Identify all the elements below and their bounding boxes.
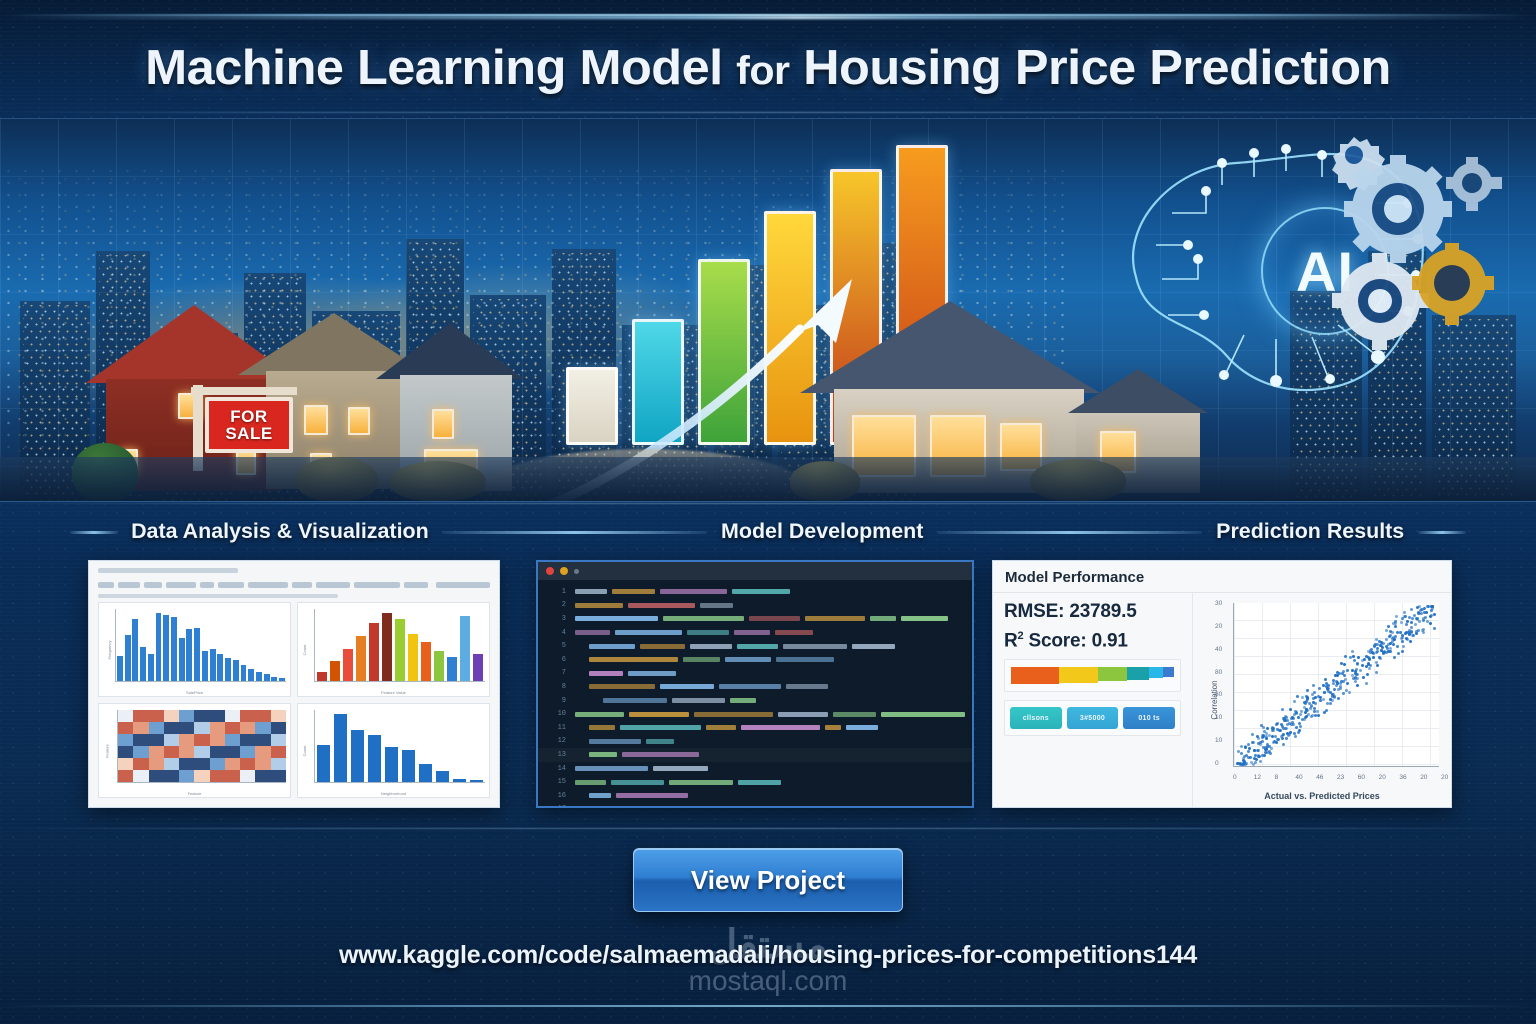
y-axis-tick: 10 [1215,714,1222,721]
house-roof-blue [376,323,524,379]
scatter-point [1356,673,1359,676]
scatter-point [1343,663,1346,666]
line-number: 7 [544,669,566,677]
scatter-point [1394,620,1397,623]
code-token [615,630,682,635]
scatter-point [1257,749,1260,752]
code-line: 6 [538,653,972,667]
scatter-point [1325,709,1328,712]
scatter-point [1356,663,1359,666]
scatter-point [1348,691,1351,694]
scatter-point [1409,640,1412,643]
bar [408,634,418,681]
r2-label-tail: Score: [1023,630,1086,651]
scatter-point [1425,611,1428,614]
code-token [589,739,641,744]
code-token [690,644,733,649]
scatter-point [1259,760,1262,763]
header-rule [937,531,1202,534]
scatter-point [1265,737,1268,740]
scatter-point [1354,676,1357,679]
bar [382,613,392,681]
scatter-point [1342,680,1345,683]
house-roof-slate [800,301,1100,393]
scatter-point [1389,650,1392,653]
code-line: 9 [538,694,972,708]
code-line: 15 [538,775,972,789]
bar [436,771,449,782]
feature-importance-segment [1098,667,1128,681]
scatter-point [1387,643,1390,646]
heatmap-cell [210,734,225,746]
line-number: 5 [544,642,566,650]
code-token [611,780,664,785]
bar [434,651,444,681]
code-token [616,793,688,798]
scatter-point [1385,638,1388,641]
heatmap-cell [240,746,255,758]
r2-value: 0.91 [1092,630,1128,651]
bar [473,654,483,681]
heatmap-cell [118,770,133,782]
bar [369,623,379,681]
heatmap-cell [164,746,179,758]
scatter-point [1266,727,1269,730]
data-analysis-panel[interactable]: Frequency SalePrice Count Feature Value … [88,560,500,808]
scatter-point [1372,656,1375,659]
scatter-point [1281,708,1284,711]
close-icon[interactable] [546,567,554,575]
y-axis-tick: 0 [1215,760,1219,767]
scatter-point [1392,643,1395,646]
scatter-point [1343,674,1346,677]
scatter-point [1368,658,1371,661]
scatter-point [1294,735,1297,738]
chip-2[interactable]: 3#5000 [1067,707,1119,729]
feature-importance-segment [1149,667,1163,678]
code-token [702,807,725,808]
chart-colored-histogram: Count Feature Value [297,602,490,697]
scatter-point [1418,605,1421,608]
line-number: 8 [544,683,566,691]
rmse-value: 23789.5 [1069,601,1136,622]
for-sale-sign: FOR SALE [205,397,293,453]
code-token [783,644,846,649]
scatter-point [1395,615,1398,618]
bar [271,677,277,681]
code-token [575,630,610,635]
bar [395,619,405,681]
scatter-point [1394,625,1397,628]
x-axis-tick: 20 [1420,774,1427,781]
scatter-point [1318,687,1321,690]
line-number: 13 [544,751,566,759]
scatter-point [1361,664,1364,667]
code-token [660,684,714,689]
scatter-point [1297,716,1300,719]
bar [117,656,123,681]
bar [210,649,216,681]
scatter-point [1344,655,1347,658]
scatter-point [1408,616,1411,619]
header-rule [70,531,118,534]
bar [225,658,231,681]
heatmap-cell [255,758,270,770]
heatmap-cell [271,770,286,782]
line-number: 14 [544,765,566,773]
sign-text-line2: SALE [225,425,272,442]
heatmap-cell [194,758,209,770]
code-token [628,603,695,608]
scatter-point [1312,697,1315,700]
scatter-point [1329,698,1332,701]
bar [194,628,200,681]
scatter-point [1324,678,1327,681]
scatter-point [1411,617,1414,620]
chip-3[interactable]: 010 ts [1123,707,1175,729]
results-header: Model Performance [993,561,1451,593]
y-axis-tick: 80 [1215,691,1222,698]
scatter-point [1365,682,1368,685]
scatter-point [1336,671,1339,674]
gears-icon [1294,135,1504,365]
code-token [687,630,729,635]
scatter-point [1335,684,1338,687]
scatter-point [1257,737,1260,740]
code-line: 10 [538,707,972,721]
bar [334,714,347,782]
scatter-point [1305,708,1308,711]
y-axis-tick: 10 [1215,737,1222,744]
light-streak-hero-bottom [0,503,1536,504]
x-axis-tick: 12 [1254,774,1261,781]
code-token [870,616,896,621]
heatmap-cell [271,734,286,746]
code-token [589,684,655,689]
code-token [620,725,700,730]
sign-text-line1: FOR [230,408,267,425]
minimize-icon[interactable] [560,567,568,575]
heatmap-cell [194,770,209,782]
scatter-point [1401,650,1404,653]
scatter-point [1410,608,1413,611]
scatter-point [1337,697,1340,700]
line-number: 11 [544,724,566,732]
line-number: 17 [544,805,566,808]
heatmap-cell [225,746,240,758]
bar [179,638,185,681]
heatmap-cell [240,734,255,746]
scatter-point [1418,620,1421,623]
chip-1[interactable]: cllsons [1010,707,1062,729]
code-token [589,807,607,808]
maximize-icon[interactable] [574,569,579,574]
heatmap-cell [179,722,194,734]
scatter-point [1316,710,1319,713]
scatter-point [1417,612,1420,615]
house-window [432,409,454,439]
notebook-header [98,568,490,577]
code-line: 17 [538,803,972,809]
feature-importance-widget [1004,659,1181,692]
scatter-point [1261,736,1264,739]
bar [202,651,208,681]
title-part-1: Machine Learning Model [145,41,723,95]
scatter-point [1278,729,1281,732]
metrics-column: RMSE: 23789.5 R2 Score: 0.91 cllsons 3#5… [993,593,1193,807]
code-token [706,725,737,730]
bar [317,672,327,681]
r2-label: R [1004,630,1018,651]
bar [385,747,398,782]
scatter-point [1251,733,1254,736]
code-token [575,780,606,785]
scatter-point [1275,723,1278,726]
heatmap-cell [271,758,286,770]
feature-importance-segment [1163,667,1174,676]
code-token [734,630,770,635]
code-token [575,603,623,608]
scatter-point [1401,640,1404,643]
feature-importance-segment [1127,667,1149,679]
code-token [786,684,828,689]
bar [279,678,285,681]
scatter-point [1263,730,1266,733]
heatmap-cell [179,758,194,770]
scatter-point [1289,708,1292,711]
code-token [663,616,744,621]
heatmap-cell [194,710,209,722]
bar [317,745,330,782]
line-number: 4 [544,629,566,637]
scatter-point [1406,620,1409,623]
x-axis-tick: 36 [1399,774,1406,781]
scatter-point [1429,622,1432,625]
scatter-point [1359,669,1362,672]
scatter-point [1247,750,1250,753]
heatmap-cell [118,746,133,758]
scatter-point [1403,611,1406,614]
cta-row: View Project [0,848,1536,912]
light-streak-above-cta [0,828,1536,829]
code-token [776,657,834,662]
feature-importance-segment [1059,667,1097,682]
x-axis-tick: 8 [1275,774,1279,781]
code-token [589,657,678,662]
scatter-point [1405,623,1408,626]
line-number: 6 [544,656,566,664]
scatter-point [1298,729,1301,732]
heatmap-cell [240,710,255,722]
scatter-point [1319,696,1322,699]
heatmap-cell [133,770,148,782]
heatmap-cell [164,734,179,746]
code-token [612,589,655,594]
heatmap-cell [149,722,164,734]
scatter-point [1400,621,1403,624]
chart-correlation-heatmap: Feature Feature [98,703,291,798]
scatter-point [1247,743,1250,746]
scatter-point [1433,627,1436,630]
heatmap-cell [210,758,225,770]
heatmap-cell [149,770,164,782]
code-token [575,712,624,717]
code-token [719,684,780,689]
x-axis-tick: 20 [1441,774,1448,781]
bar [217,654,223,681]
heatmap-cell [164,710,179,722]
scatter-point [1422,619,1425,622]
bar [264,674,270,681]
bar [233,660,239,681]
heatmap-cell [149,734,164,746]
prediction-results-panel[interactable]: Model Performance RMSE: 23789.5 R2 Score… [992,560,1452,808]
scatter-point [1355,668,1358,671]
scatter-point [1304,716,1307,719]
scatter-point [1401,617,1404,620]
scatter-point [1415,630,1418,633]
bar [241,665,247,681]
heatmap-cell [210,770,225,782]
scatter-point [1240,745,1243,748]
x-axis-tick: 60 [1358,774,1365,781]
code-line: 2 [538,599,972,613]
code-token [730,698,756,703]
title-part-3: Housing Price Prediction [803,41,1391,95]
heatmap-cell [149,710,164,722]
code-token [881,712,965,717]
heatmap-cell [118,734,133,746]
header-rule [442,531,707,534]
code-token [852,644,895,649]
heatmap-cell [179,710,194,722]
heatmap-cell [255,770,270,782]
scatter-point [1337,688,1340,691]
line-number: 3 [544,615,566,623]
scatter-point [1263,754,1266,757]
code-token [778,712,828,717]
code-token [683,657,720,662]
line-number: 1 [544,588,566,596]
chart-feature-counts: Count Neighborhood [297,703,490,798]
line-number: 12 [544,737,566,745]
section-title-model-development: Model Development [704,520,939,544]
bar [453,779,466,782]
scatter-point [1352,655,1355,658]
code-token [589,752,617,757]
editor-titlebar [538,562,972,580]
notebook-toolbar [98,582,490,588]
scatter-point [1341,672,1344,675]
footer: مستقل mostaql.com www.kaggle.com/code/sa… [0,925,1536,1024]
code-line: 3 [538,612,972,626]
code-token [589,671,623,676]
code-token [589,793,611,798]
heatmap-cell [164,722,179,734]
scatter-point [1375,651,1378,654]
heatmap-cell [133,710,148,722]
scatter-point [1285,737,1288,740]
title-part-2: for [736,49,789,93]
rmse-label: RMSE: [1004,601,1064,622]
scatter-point [1376,664,1379,667]
hero-image: FOR SALE [0,118,1536,502]
model-development-panel[interactable]: 1234567891011121314151617 [536,560,974,808]
code-token [628,671,676,676]
house-window [348,407,370,435]
code-token [622,752,699,757]
scatter-point [1396,645,1399,648]
scatter-point [1288,733,1291,736]
project-url[interactable]: www.kaggle.com/code/salmaemadali/housing… [0,941,1536,970]
page-title: Machine Learning Model for Housing Price… [0,40,1536,96]
scatter-point [1249,756,1252,759]
scatter-point [1366,673,1369,676]
ai-brain-graphic: AI [1076,129,1496,429]
scatter-point [1356,684,1359,687]
heatmap-cell [210,746,225,758]
heatmap-cell [179,734,194,746]
bar [256,672,262,681]
y-axis-tick: 30 [1215,600,1222,607]
line-number: 15 [544,778,566,786]
heatmap-cell [240,722,255,734]
y-axis-tick: 80 [1215,669,1222,676]
scatter-point [1301,718,1304,721]
code-token [901,616,948,621]
heatmap-cell [149,758,164,770]
code-editor-body[interactable]: 1234567891011121314151617 [538,580,972,808]
title-band: Machine Learning Model for Housing Price… [0,0,1536,118]
scatter-point [1290,723,1293,726]
title-glow-line [0,16,1536,19]
code-line: 14 [538,762,972,776]
code-token [749,616,800,621]
bar [460,616,470,681]
scatter-point [1296,695,1299,698]
panels-row: Frequency SalePrice Count Feature Value … [0,560,1536,810]
scatter-point [1346,682,1349,685]
heatmap-cell [255,734,270,746]
scatter-point [1272,729,1275,732]
scatter-point [1301,696,1304,699]
code-token [700,603,733,608]
chart-histogram-price: Frequency SalePrice [98,602,291,697]
x-axis-tick: 0 [1233,774,1237,781]
scatter-point [1240,752,1243,755]
section-title-prediction-results: Prediction Results [1199,520,1420,544]
scatter-point [1323,691,1326,694]
scatter-point [1362,676,1365,679]
heatmap-cell [179,770,194,782]
code-token [738,780,781,785]
scatter-x-axis-label: Actual vs. Predicted Prices [1193,791,1451,801]
x-axis-tick: 46 [1316,774,1323,781]
scatter-point [1270,747,1273,750]
scatter-point [1368,667,1371,670]
scatter-point [1351,669,1354,672]
code-token [672,698,724,703]
notebook-charts-grid: Frequency SalePrice Count Feature Value … [98,602,490,798]
code-token [589,644,635,649]
code-token [775,630,813,635]
code-token [575,766,648,771]
heatmap-cell [255,746,270,758]
code-token [575,616,658,621]
heatmap-cell [271,722,286,734]
view-project-button[interactable]: View Project [633,848,903,912]
heatmap-cell [133,734,148,746]
